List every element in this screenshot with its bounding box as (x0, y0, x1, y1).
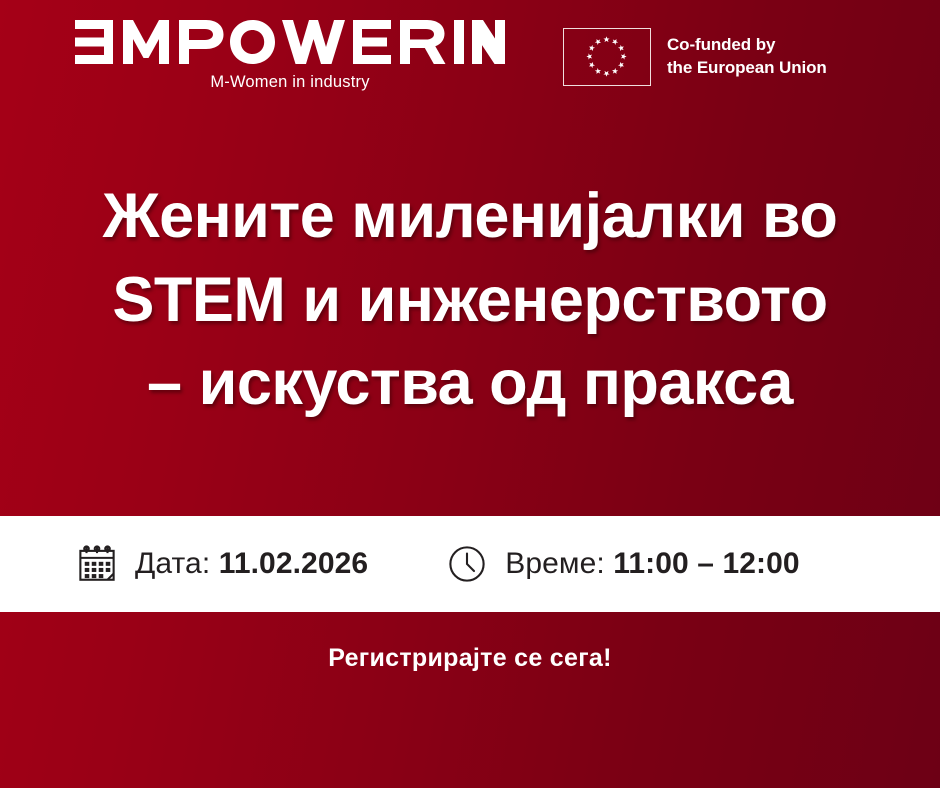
event-date-label: Дата: (135, 547, 219, 580)
event-date-value: 11.02.2026 (219, 547, 369, 580)
event-poster: M-Women in industry (0, 0, 940, 788)
register-now-text[interactable]: Регистрирајте се сега! (328, 644, 612, 673)
title-line-2: STEM и инженерството (112, 259, 827, 342)
clock-icon (446, 543, 488, 585)
event-date-text: Дата: 11.02.2026 (135, 547, 368, 581)
title-line-3: – искуства од пракса (147, 342, 793, 425)
poster-header: M-Women in industry (0, 0, 940, 118)
eu-flag-icon (563, 28, 651, 86)
eu-stars-circle-icon (564, 29, 649, 84)
calendar-icon (76, 543, 118, 585)
empowering-wordmark (75, 22, 505, 64)
poster-title: Жените миленијалки во STEM и инженерство… (0, 118, 940, 516)
eu-funding-line-2: the European Union (667, 57, 827, 80)
event-info-bar: Дата: 11.02.2026 Време: 11:00 – 12:00 (0, 516, 940, 612)
empowering-brand-block: M-Women in industry (72, 22, 508, 92)
title-line-1: Жените миленијалки во (103, 175, 838, 258)
empowering-logotype-icon (75, 20, 505, 64)
event-date-item: Дата: 11.02.2026 (76, 543, 368, 585)
brand-tagline: M-Women in industry (210, 73, 369, 92)
event-time-text: Време: 11:00 – 12:00 (505, 547, 800, 581)
event-time-label: Време: (505, 547, 613, 580)
eu-funding-text: Co-funded by the European Union (667, 34, 827, 80)
eu-funding-line-1: Co-funded by (667, 34, 827, 57)
event-time-value: 11:00 – 12:00 (613, 547, 799, 580)
event-time-item: Време: 11:00 – 12:00 (446, 543, 800, 585)
eu-funding-block: Co-funded by the European Union (563, 28, 827, 86)
cta-bar: Регистрирајте се сега! (0, 612, 940, 788)
